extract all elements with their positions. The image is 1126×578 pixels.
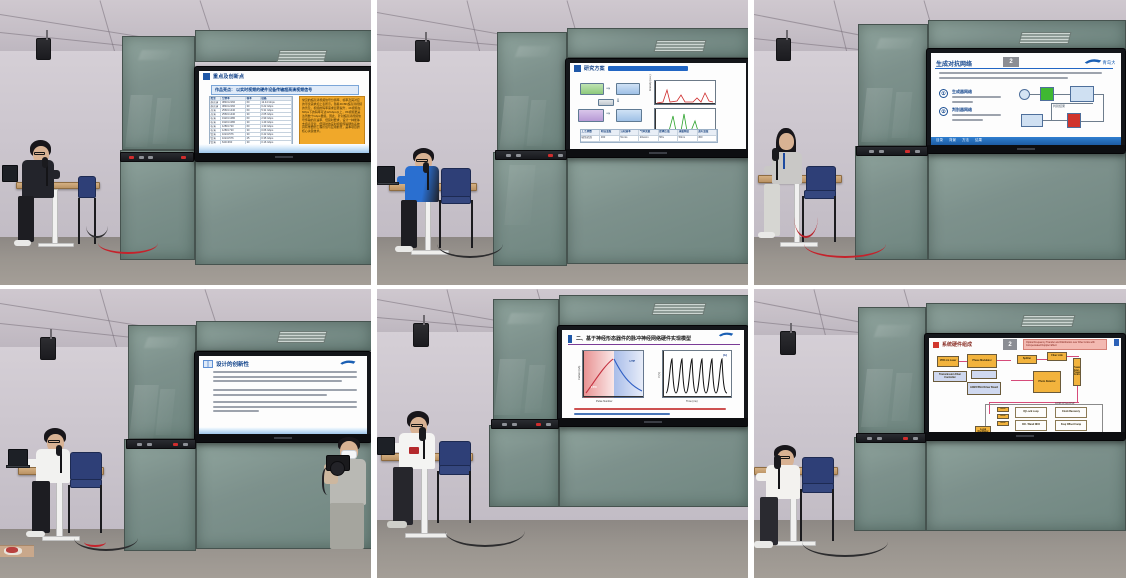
slide-paragraph-1 bbox=[213, 371, 365, 385]
microphone-stand bbox=[776, 158, 778, 180]
slide-surface: 设计的创新性 bbox=[199, 356, 367, 434]
ceiling-vent bbox=[277, 50, 328, 62]
glass-whiteboard-lower-left bbox=[489, 425, 559, 507]
display-control-strip[interactable] bbox=[120, 152, 194, 162]
panel-6-bottom-right: 系统硬件组成 2 Optical Frequency Transfer and … bbox=[754, 289, 1126, 578]
slide-title: 设计的创新性 bbox=[216, 360, 249, 368]
plot-b-xlabel: Time (ms) bbox=[686, 400, 698, 403]
slide-caption bbox=[574, 408, 734, 417]
display-bottom-bezel bbox=[558, 418, 748, 426]
office-chair bbox=[70, 452, 102, 480]
slide-title: 重点及创新点 bbox=[213, 73, 244, 80]
display-control-strip[interactable] bbox=[856, 146, 928, 156]
title-square-icon bbox=[933, 342, 939, 348]
block-laser: 1550 nm Laser bbox=[937, 356, 959, 367]
plot-a-xlabel: Pulse Number bbox=[596, 400, 612, 403]
bullet-number-2: ② bbox=[939, 107, 948, 116]
glass-whiteboard-lower-right bbox=[928, 152, 1126, 260]
camera-strap bbox=[322, 467, 336, 495]
power-cable bbox=[804, 230, 886, 258]
slide-footer bbox=[199, 427, 367, 434]
slide-panel-6: 系统硬件组成 2 Optical Frequency Transfer and … bbox=[929, 338, 1121, 432]
slide-surface: 系统硬件组成 2 Optical Frequency Transfer and … bbox=[929, 338, 1121, 432]
office-chair bbox=[441, 168, 471, 198]
gan-node-z bbox=[1019, 89, 1030, 100]
slide-title: 二、基于神经形态器件的脉冲神经网络硬件实现模型 bbox=[576, 335, 736, 342]
office-chair bbox=[439, 441, 471, 467]
ceiling-vent bbox=[1021, 315, 1076, 327]
microphone-stand bbox=[60, 453, 62, 473]
block-freq-offset: Freq Offset Comp bbox=[1055, 420, 1087, 431]
floor-cable bbox=[445, 515, 525, 547]
glass-whiteboard-lower-right bbox=[567, 156, 748, 264]
slide-subtitle: 作品亮点： 以实时视频的硬件设备传输超高清视频信号 bbox=[211, 85, 359, 95]
microphone bbox=[772, 148, 779, 161]
display-screen: 二、基于神经形态器件的脉冲神经网络硬件实现模型 bbox=[557, 325, 748, 427]
display-screen: 研究方案 ⇒ ⇓ ⇒ bbox=[565, 58, 748, 158]
plot-b-ylabel: V (V) bbox=[658, 372, 661, 378]
slide-surface: 二、基于神经形态器件的脉冲神经网络硬件实现模型 bbox=[562, 330, 744, 418]
slide-banner: Optical Frequency Transfer and Distribut… bbox=[1023, 339, 1107, 350]
fruit bbox=[6, 547, 18, 553]
laptop[interactable] bbox=[2, 165, 18, 182]
bullet-number-1: ① bbox=[939, 89, 948, 98]
footer-nav-0[interactable]: 目录 bbox=[936, 138, 943, 143]
office-chair bbox=[78, 176, 96, 198]
footer-nav-2[interactable]: 方法 bbox=[962, 138, 969, 143]
microphone bbox=[56, 445, 62, 456]
gan-node-fake-sample bbox=[1070, 86, 1094, 102]
glass-whiteboard-lower-right bbox=[195, 160, 371, 265]
photo-grid: 重点及创新点 作品亮点： 以实时视频的硬件设备传输超高清视频信号 类型分辨率帧率… bbox=[0, 0, 1126, 578]
title-bar-icon bbox=[568, 335, 572, 343]
plot-spike-train: (b) bbox=[662, 350, 732, 398]
slide-body-text bbox=[939, 72, 1111, 81]
slide-footer-nav[interactable]: 目录 背景 方法 结果 bbox=[931, 137, 1121, 145]
process-step-3 bbox=[598, 99, 614, 106]
highlight-note-box: 常见的超高清视频信号分辨率、帧率及其对应的带宽需求如上表所示。随着4K/8K超高… bbox=[299, 96, 365, 151]
laptop[interactable] bbox=[377, 437, 395, 455]
ceiling-vent bbox=[277, 331, 328, 343]
slide-panel-5: 二、基于神经形态器件的脉冲神经网络硬件实现模型 bbox=[562, 330, 744, 418]
block-photodetector: Photo Detector bbox=[1033, 371, 1061, 393]
ceiling-vent bbox=[654, 40, 707, 52]
gan-node-generator bbox=[1040, 87, 1054, 101]
display-screen: 生成对抗网络 2 青岛大学 ① 生成器网络 ② 判别器网络 bbox=[926, 48, 1126, 154]
block-transmission-controller: Transmission Fiber Controller bbox=[933, 371, 967, 382]
bullet-label-1: 生成器网络 bbox=[952, 89, 972, 95]
banner-accent bbox=[1114, 339, 1119, 346]
display-bottom-bezel bbox=[195, 153, 371, 161]
ceiling-speaker bbox=[413, 323, 429, 347]
ceiling-vent bbox=[652, 303, 707, 315]
slide-surface: 研究方案 ⇒ ⇓ ⇒ bbox=[570, 63, 746, 149]
plot-a-ylabel: Current (nA) bbox=[578, 366, 581, 380]
process-step-5 bbox=[616, 109, 642, 122]
fpga-annotation: AOM FPGA DSP bbox=[1055, 402, 1075, 405]
slide-panel-2: 研究方案 ⇒ ⇓ ⇒ bbox=[570, 63, 746, 149]
process-step-2 bbox=[616, 83, 640, 95]
plot-annotation-ltd: LTD bbox=[591, 385, 597, 389]
lanyard bbox=[783, 153, 785, 169]
block-fiber-link: Fiber Link bbox=[1047, 352, 1067, 361]
display-control-strip[interactable] bbox=[495, 150, 567, 160]
display-screen: 系统硬件组成 2 Optical Frequency Transfer and … bbox=[924, 333, 1126, 441]
header-bar bbox=[608, 66, 688, 71]
ceiling-speaker bbox=[776, 38, 791, 61]
block-splitter: Splitter bbox=[1017, 355, 1037, 364]
spec-table: 类型分辨率帧率链路 超高清3840×21606012.44 Gbps 超高清38… bbox=[209, 96, 293, 150]
floor-cable bbox=[74, 525, 138, 551]
slide-panel-3: 生成对抗网络 2 青岛大学 ① 生成器网络 ② 判别器网络 bbox=[931, 53, 1121, 145]
university-logo-icon bbox=[718, 330, 740, 338]
microphone bbox=[774, 455, 781, 469]
slide-surface: 生成对抗网络 2 青岛大学 ① 生成器网络 ② 判别器网络 bbox=[931, 53, 1121, 145]
block-fpga-driver: AOM FPGA Driver Board bbox=[967, 382, 1001, 395]
parameter-table: 工艺参数衬底温度沉积速率气体流量腔体压强薄膜厚度退火温度 取值范围3005nm/… bbox=[580, 129, 718, 143]
svg-text:青岛大学: 青岛大学 bbox=[1102, 59, 1115, 66]
office-chair bbox=[802, 457, 834, 485]
slide-panel-1: 重点及创新点 作品亮点： 以实时视频的硬件设备传输超高清视频信号 类型分辨率帧率… bbox=[199, 71, 369, 153]
university-logo-icon bbox=[339, 358, 363, 366]
display-bottom-bezel bbox=[925, 432, 1125, 440]
slide-title: 系统硬件组成 bbox=[942, 341, 972, 348]
panel-2-top-center: 研究方案 ⇒ ⇓ ⇒ bbox=[377, 0, 748, 285]
slide-paragraph-2 bbox=[213, 389, 365, 398]
display-control-strip[interactable] bbox=[856, 433, 926, 443]
gan-edge-label: 判别结果 bbox=[1053, 104, 1065, 108]
header-square-icon bbox=[574, 65, 581, 72]
floor-cable bbox=[437, 230, 503, 258]
panel-3-top-right: 生成对抗网络 2 青岛大学 ① 生成器网络 ② 判别器网络 bbox=[754, 0, 1126, 285]
gan-node-real-sample bbox=[1021, 114, 1043, 127]
slide-footer bbox=[199, 144, 369, 153]
ceiling-vent bbox=[1019, 32, 1072, 44]
process-step-1 bbox=[580, 83, 604, 95]
ceiling-speaker bbox=[415, 40, 430, 62]
display-bottom-bezel bbox=[566, 149, 748, 157]
floor bbox=[377, 520, 748, 578]
block-transmission: Power Meter & Power Monitor bbox=[1073, 358, 1081, 386]
ceiling-speaker bbox=[780, 331, 796, 355]
ceiling-speaker bbox=[36, 38, 51, 60]
plot-stdp-curve: LTD LTP bbox=[582, 350, 644, 398]
display-control-strip[interactable] bbox=[126, 439, 196, 449]
slide-panel-4: 设计的创新性 bbox=[199, 356, 367, 434]
power-cable bbox=[98, 232, 158, 254]
block-cic-nco: CIC / Band NCO bbox=[1015, 420, 1047, 431]
panel-1-top-left: 重点及创新点 作品亮点： 以实时视频的硬件设备传输超高清视频信号 类型分辨率帧率… bbox=[0, 0, 371, 285]
footer-nav-1[interactable]: 背景 bbox=[949, 138, 956, 143]
slide-title: 研究方案 bbox=[584, 65, 605, 72]
office-chair bbox=[806, 166, 836, 192]
block-adc-3: ADC bbox=[997, 421, 1009, 426]
bullet-label-2: 判别器网络 bbox=[952, 107, 972, 113]
slide-header: 研究方案 bbox=[570, 63, 746, 73]
ceiling-speaker bbox=[40, 337, 56, 360]
footer-nav-3[interactable]: 结果 bbox=[975, 138, 982, 143]
page-number-badge: 2 bbox=[1003, 339, 1017, 350]
block-amplifier bbox=[971, 370, 997, 379]
note-text: 常见的超高清视频信号分辨率、帧率及其对应的带宽需求如上表所示。随着4K/8K超高… bbox=[302, 99, 362, 134]
block-clock-recovery: Clock Recovery bbox=[1055, 407, 1087, 418]
block-adc-2: ADC bbox=[997, 414, 1009, 419]
gan-node-discriminator bbox=[1067, 113, 1081, 128]
plot-annotation-b: (b) bbox=[723, 353, 727, 357]
slide-header: 重点及创新点 bbox=[199, 71, 369, 82]
block-iq-lock-loop: IQ Lock Loop bbox=[1015, 407, 1047, 418]
panel-5-bottom-center: 二、基于神经形态器件的脉冲神经网络硬件实现模型 bbox=[377, 289, 748, 578]
spectrum-plot-red bbox=[654, 80, 716, 105]
plot-annotation-ltp: LTP bbox=[630, 359, 635, 363]
process-step-4 bbox=[578, 109, 604, 122]
microphone bbox=[42, 157, 48, 168]
glass-whiteboard-lower-left bbox=[854, 437, 926, 531]
glass-whiteboard-lower-right bbox=[559, 425, 748, 507]
glass-whiteboard-lower-right bbox=[926, 437, 1126, 531]
floor-cable bbox=[802, 527, 888, 557]
microphone bbox=[419, 427, 426, 441]
plot-y-axis-label: Intensity (a.u.) bbox=[649, 75, 652, 91]
microphone bbox=[423, 162, 429, 173]
display-screen: 设计的创新性 bbox=[194, 351, 371, 443]
block-modulator: Phase Modulator bbox=[967, 354, 997, 368]
display-bottom-bezel bbox=[927, 145, 1125, 153]
slide-title: 生成对抗网络 bbox=[936, 59, 972, 68]
university-logo-icon: 青岛大学 bbox=[1081, 56, 1115, 66]
display-control-strip[interactable] bbox=[491, 419, 559, 429]
header-square-icon bbox=[203, 73, 210, 80]
display-screen: 重点及创新点 作品亮点： 以实时视频的硬件设备传输超高清视频信号 类型分辨率帧率… bbox=[194, 66, 371, 162]
slide-surface: 重点及创新点 作品亮点： 以实时视频的硬件设备传输超高清视频信号 类型分辨率帧率… bbox=[199, 71, 369, 153]
microphone-stand bbox=[427, 170, 429, 190]
page-number-badge: 2 bbox=[1003, 57, 1019, 67]
panel-4-bottom-left: 设计的创新性 bbox=[0, 289, 371, 578]
slide-paragraph-3 bbox=[213, 401, 365, 415]
shirt-graphic bbox=[409, 447, 419, 454]
block-adc-1: ADC bbox=[997, 407, 1009, 412]
book-icon bbox=[203, 360, 213, 368]
